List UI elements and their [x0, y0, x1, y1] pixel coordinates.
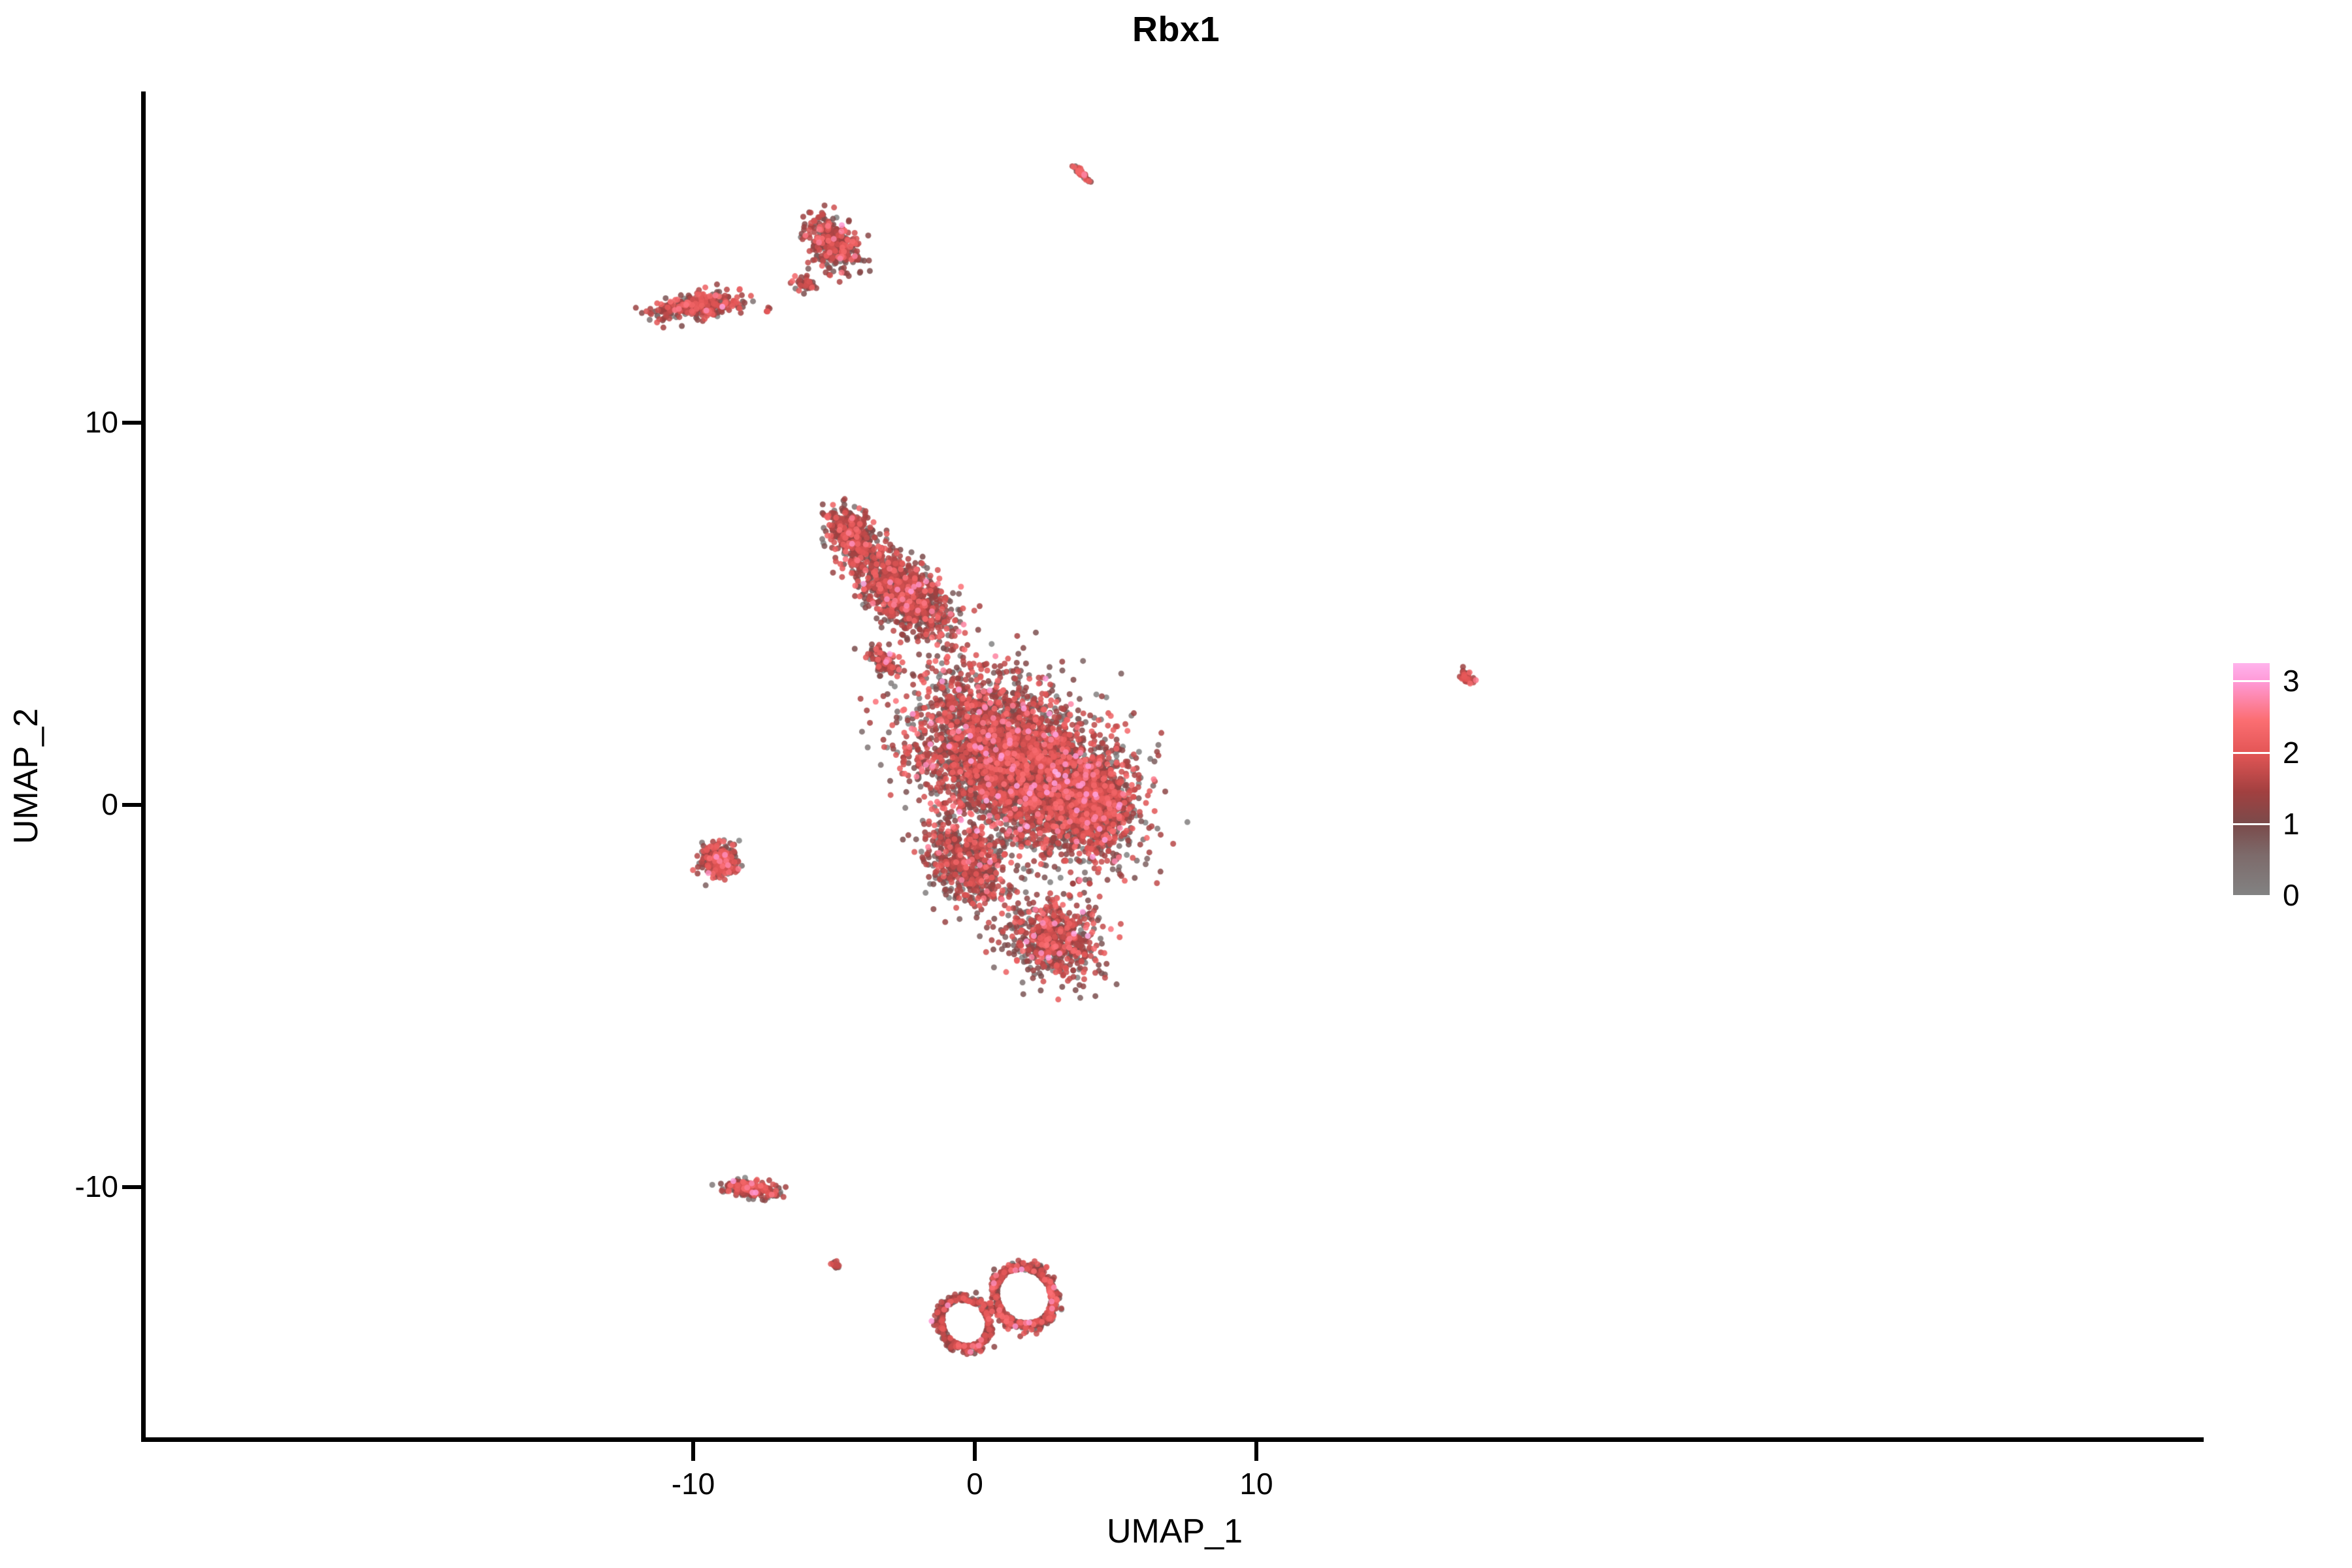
colorbar-gradient	[2233, 663, 2270, 895]
x-tick-label: 10	[1239, 1469, 1273, 1499]
colorbar-tick-mark	[2233, 752, 2270, 754]
y-tick-label: 10	[85, 407, 118, 437]
colorbar-tick-label: 2	[2283, 738, 2300, 768]
y-tick-mark	[122, 803, 141, 807]
y-tick-mark	[122, 1185, 141, 1189]
y-axis-title: UMAP_2	[9, 71, 43, 1482]
colorbar-tick-mark	[2233, 680, 2270, 682]
umap-feature-plot: Rbx1 -10010-10010 UMAP_1 UMAP_2 0123	[0, 0, 2352, 1568]
x-tick-mark	[973, 1442, 977, 1461]
x-tick-label: -10	[672, 1469, 715, 1499]
y-tick-mark	[122, 421, 141, 425]
color-legend: 0123	[2233, 663, 2344, 905]
colorbar-tick-label: 1	[2283, 809, 2300, 839]
scatter-plot-canvas	[145, 91, 2204, 1440]
colorbar-tick-label: 3	[2283, 666, 2300, 696]
x-tick-label: 0	[966, 1469, 983, 1499]
page-title: Rbx1	[0, 12, 2352, 47]
colorbar-tick-mark	[2233, 823, 2270, 825]
y-tick-label: -10	[75, 1171, 118, 1201]
y-tick-label: 0	[101, 789, 118, 819]
x-axis-line	[141, 1437, 2204, 1442]
y-axis-line	[141, 91, 146, 1442]
x-axis-title: UMAP_1	[145, 1514, 2204, 1548]
colorbar-tick-label: 0	[2283, 880, 2300, 910]
x-tick-mark	[1254, 1442, 1258, 1461]
x-tick-mark	[691, 1442, 695, 1461]
